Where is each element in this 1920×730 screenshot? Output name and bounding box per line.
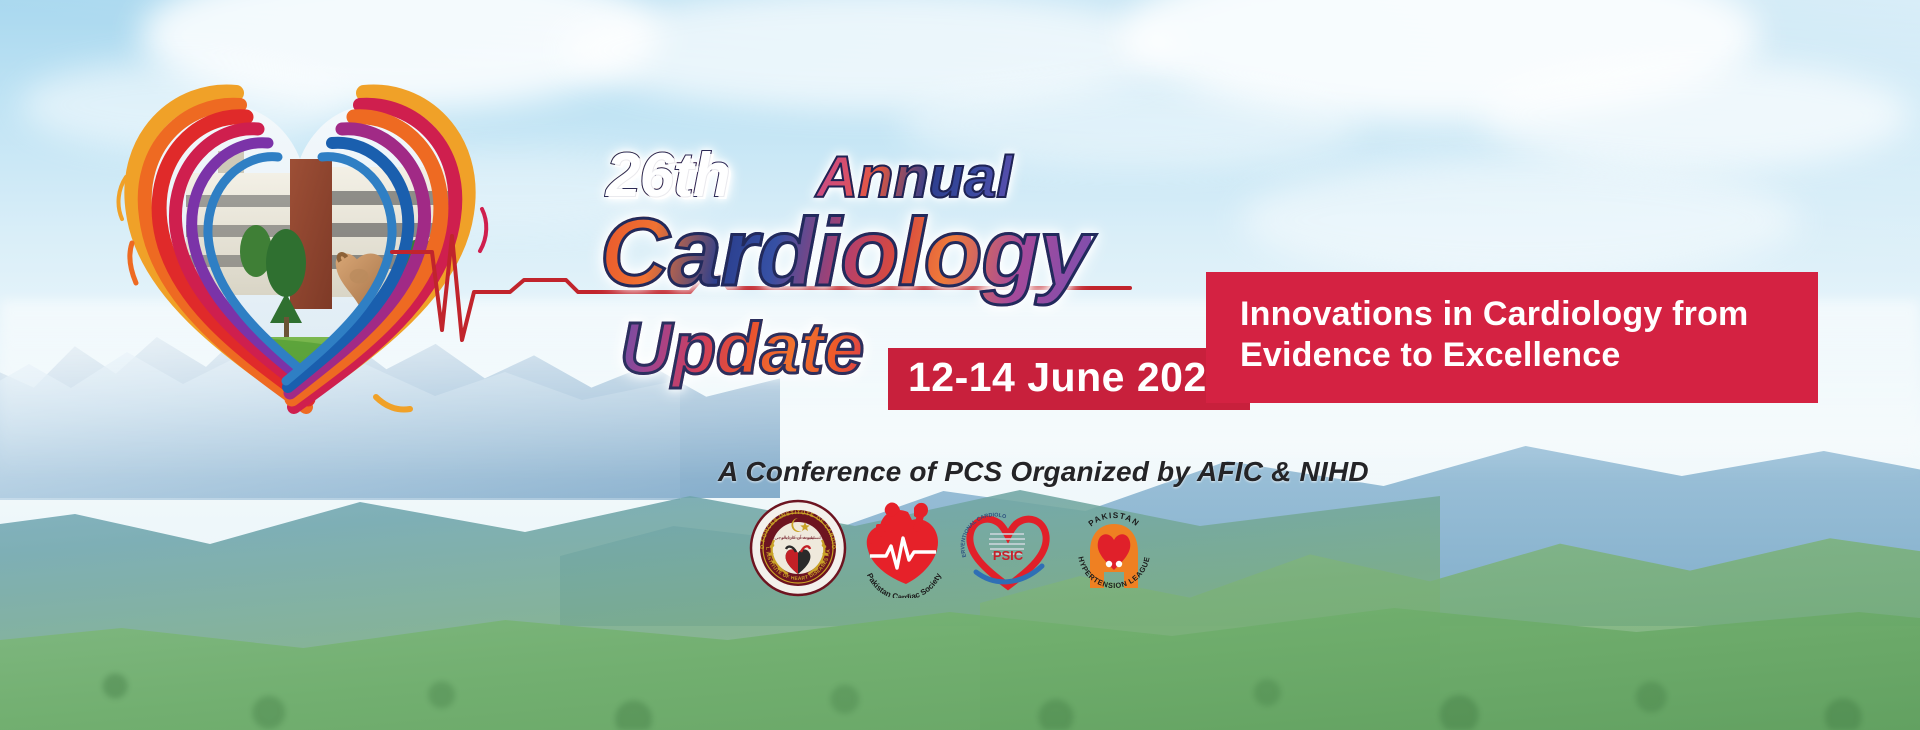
tagline-banner: Innovations in Cardiology from Evidence … <box>1206 272 1818 403</box>
logo-afic-nihd: ARMED FORCES INSTITUTE OF CARDIOLOGY NAT… <box>748 498 848 598</box>
tagline-line-2: Evidence to Excellence <box>1240 335 1788 376</box>
logo-pakistan-cardiac-society: Pakistan Cardiac Society Pakistan Cardia… <box>856 498 952 598</box>
title-cardiology: Cardiology <box>600 198 1091 308</box>
organizer-line: A Conference of PCS Organized by AFIC & … <box>718 456 1369 488</box>
logo-pakistan-hypertension-league: PAKISTAN HYPERTENSION LEAGUE PAKISTAN HY… <box>1064 498 1164 602</box>
cloud-shape <box>1240 160 1800 280</box>
tagline-line-1: Innovations in Cardiology from <box>1240 294 1788 335</box>
cloud-shape <box>1480 60 1910 170</box>
event-date-badge: 12-14 June 2026 <box>888 348 1250 410</box>
logo-psic-label: PSIC <box>993 548 1024 563</box>
conference-banner: Rainbow brush-stroke heart framing a pho… <box>0 0 1920 730</box>
svg-text:انسٹیٹیوٹ آں کارڈیالوجی: انسٹیٹیوٹ آں کارڈیالوجی <box>774 534 821 541</box>
logo-psic: PAKISTAN SOCIETY OF INTERVENTIONAL CARDI… <box>960 498 1056 598</box>
title-update: Update <box>620 308 864 390</box>
rainbow-heart-logo: Rainbow brush-stroke heart framing a pho… <box>90 55 510 415</box>
organizer-logo-strip: ARMED FORCES INSTITUTE OF CARDIOLOGY NAT… <box>748 498 1164 602</box>
